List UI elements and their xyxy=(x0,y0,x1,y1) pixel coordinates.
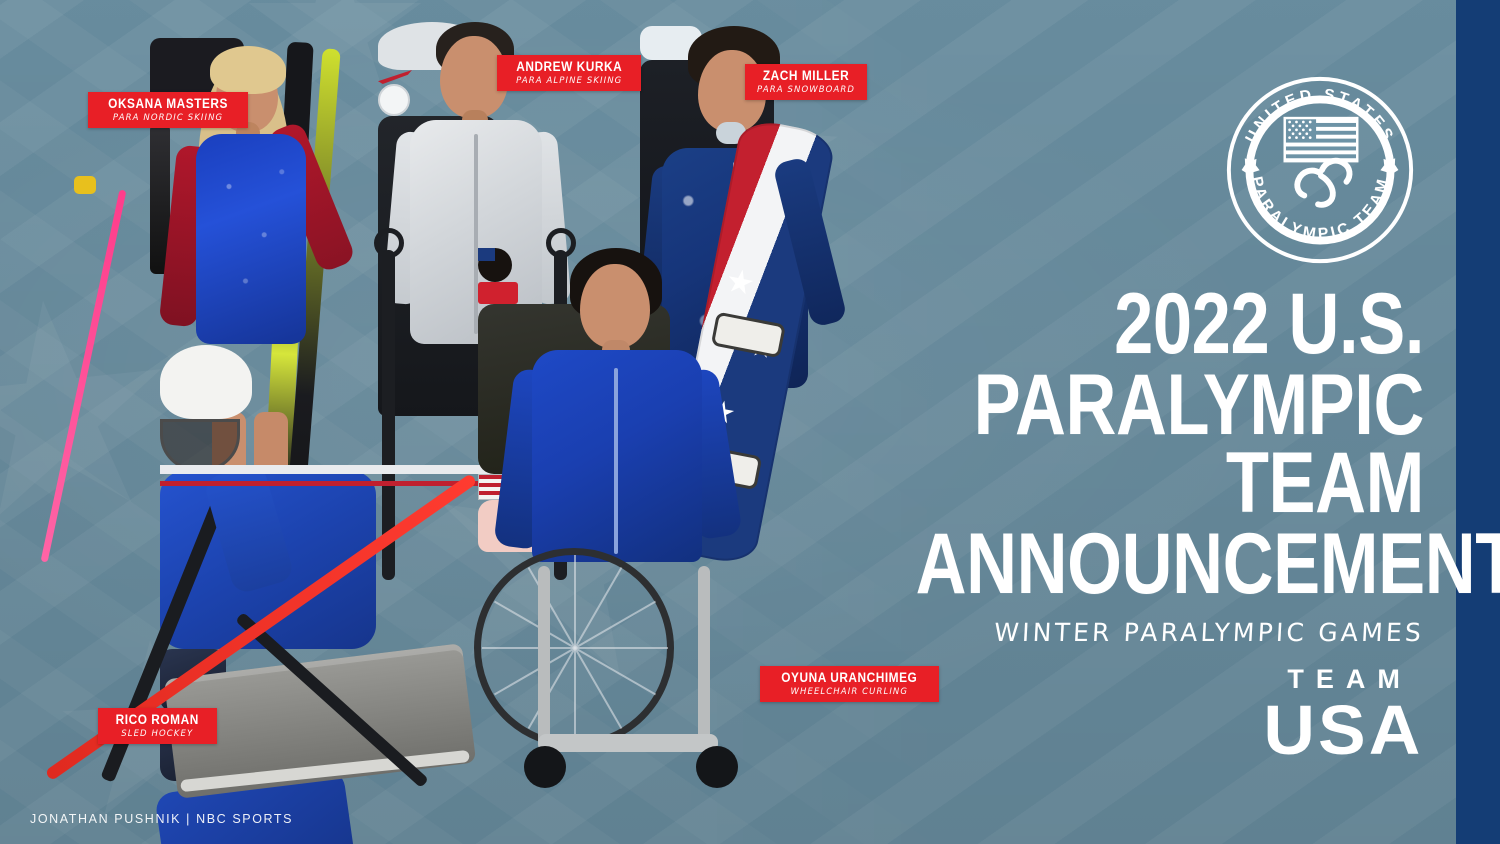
wheelchair-frame xyxy=(698,566,710,746)
team-usa-line-2: USA xyxy=(1264,697,1424,764)
athlete-sport: PARA SNOWBOARD xyxy=(757,86,855,95)
headline-block: 2022 U.S. PARALYMPIC TEAM ANNOUNCEMENT W… xyxy=(804,286,1424,647)
ski-pole-prop xyxy=(41,189,127,562)
torso-jersey xyxy=(196,134,306,344)
team-usa-logo: TEAM USA xyxy=(1265,664,1422,764)
star-icon xyxy=(1380,158,1398,178)
team-crest-icon xyxy=(378,84,410,116)
wheelchair-caster-wheel xyxy=(524,746,566,788)
photo-credit: JONATHAN PUSHNIK | NBC SPORTS xyxy=(30,812,293,826)
athlete-name: RICO ROMAN xyxy=(116,713,199,727)
paralympic-team-announcement-poster: OKSANA MASTERS PARA NORDIC SKIING ANDREW… xyxy=(0,0,1500,844)
athlete-name: ANDREW KURKA xyxy=(516,60,622,74)
wheelchair-wheel xyxy=(474,548,674,748)
headline-line-3: ANNOUNCEMENT xyxy=(916,526,1424,603)
athlete-sport: WHEELCHAIR CURLING xyxy=(772,688,927,697)
athlete-sport: SLED HOCKEY xyxy=(110,730,205,739)
athlete-name: ZACH MILLER xyxy=(763,69,849,83)
us-paralympic-team-badge: UNITED STATES PARALYMPIC TEAM xyxy=(1222,72,1418,268)
hair xyxy=(210,46,286,94)
badge-svg: UNITED STATES PARALYMPIC TEAM xyxy=(1222,72,1418,268)
brand-swoosh-icon xyxy=(378,70,412,84)
athlete-name-label-andrew-kurka: ANDREW KURKA PARA ALPINE SKIING xyxy=(497,55,641,91)
star-icon xyxy=(1242,158,1260,178)
athlete-name-label-oksana-masters: OKSANA MASTERS PARA NORDIC SKIING xyxy=(88,92,248,128)
headline-line-1: 2022 U.S. xyxy=(916,286,1424,363)
athlete-figure-rico-roman xyxy=(160,345,520,815)
head xyxy=(580,264,650,348)
helmet-face-cage xyxy=(160,419,240,471)
headline-line-2: PARALYMPIC TEAM xyxy=(916,367,1424,522)
paralympic-agitos-icon xyxy=(1297,161,1349,205)
athlete-sport: PARA ALPINE SKIING xyxy=(509,77,629,86)
athlete-figure-oyuna-uranchimeg xyxy=(478,248,808,808)
athlete-name-label-rico-roman: RICO ROMAN SLED HOCKEY xyxy=(98,708,217,744)
badge-bottom-arc-text: PARALYMPIC TEAM xyxy=(1248,175,1393,243)
wheelchair-frame xyxy=(538,566,550,746)
jacket-zipper xyxy=(614,368,618,554)
athlete-name-label-oyuna-uranchimeg: OYUNA URANCHIMEG WHEELCHAIR CURLING xyxy=(760,666,939,702)
sponsor-logo xyxy=(478,282,518,304)
hockey-helmet xyxy=(160,345,252,419)
athlete-sport: PARA NORDIC SKIING xyxy=(100,114,236,123)
wheelchair-caster-wheel xyxy=(696,746,738,788)
athlete-name: OKSANA MASTERS xyxy=(108,97,228,111)
ski-pole-grip xyxy=(74,176,96,194)
wheelchair-footplate xyxy=(538,734,718,752)
athlete-name-label-zach-miller: ZACH MILLER PARA SNOWBOARD xyxy=(745,64,867,100)
athlete-name: OYUNA URANCHIMEG xyxy=(781,671,917,685)
headline-subtitle: WINTER PARALYMPIC GAMES xyxy=(803,618,1425,647)
us-flag-icon xyxy=(1285,118,1358,161)
